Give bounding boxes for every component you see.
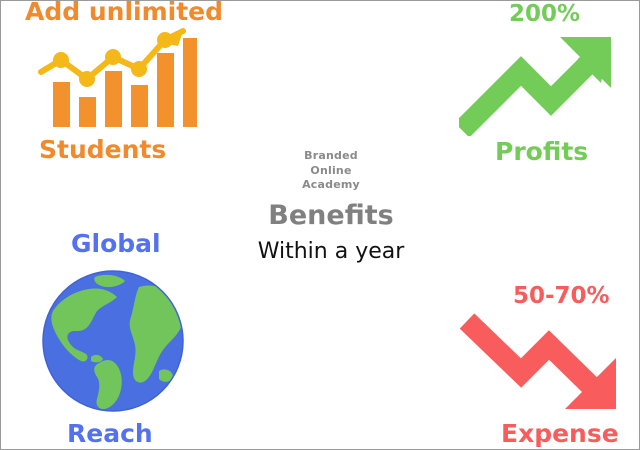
center-text-block: Branded Online Academy Benefits Within a… [231, 149, 431, 264]
trending-up-arrow-icon [459, 31, 619, 140]
page-subtitle: Within a year [231, 240, 431, 264]
page-title: Benefits [231, 201, 431, 231]
quadrant-profits-top-label: 200% [509, 3, 580, 26]
trending-down-arrow-icon [459, 307, 629, 421]
brand-line-1: Branded [231, 149, 431, 164]
bar-chart-growth-icon [37, 27, 197, 136]
quadrant-reach-bottom-label: Reach [67, 421, 153, 446]
globe-icon [39, 267, 187, 419]
quadrant-profits-bottom-label: Profits [495, 139, 588, 164]
quadrant-expense-bottom-label: Expense [501, 421, 619, 446]
quadrant-reach-top-label: Global [71, 231, 161, 256]
brand-line-3: Academy [231, 178, 431, 193]
quadrant-expense-top-label: 50-70% [513, 285, 610, 308]
brand-line-2: Online [231, 164, 431, 179]
infographic-canvas: Add unlimited Students 200% [0, 0, 640, 450]
quadrant-students-top-label: Add unlimited [25, 0, 223, 24]
quadrant-students-bottom-label: Students [39, 137, 166, 162]
